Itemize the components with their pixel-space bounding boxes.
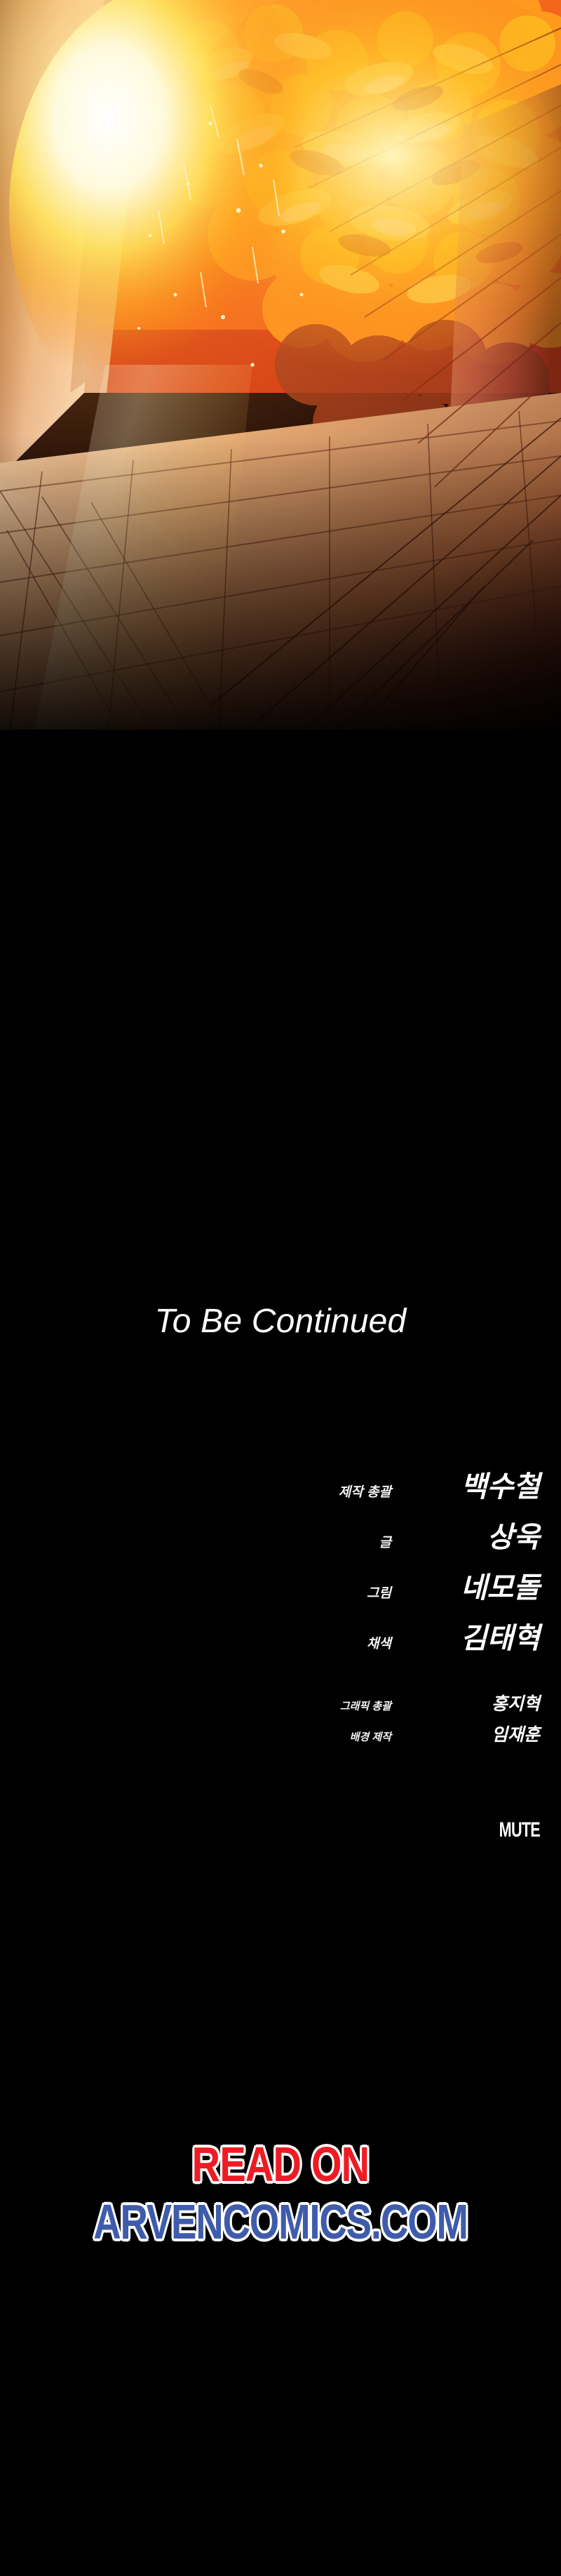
studio-logo-wrap: MUTE (0, 1818, 561, 1842)
credit-name: 김태혁 (428, 1614, 540, 1656)
credit-label: 그래픽 총괄 (309, 1698, 428, 1713)
credit-label: 제작 총괄 (309, 1482, 428, 1501)
banner-read-on-text: READ ON (56, 2140, 505, 2189)
read-on-banner[interactable]: READ ON ARVENCOMICS.COM (0, 2140, 561, 2246)
credit-label: 그림 (309, 1583, 428, 1602)
credit-label: 배경 제작 (309, 1729, 428, 1744)
credit-name: 홍지혁 (428, 1690, 540, 1715)
credit-label: 채색 (309, 1633, 428, 1652)
credit-name: 임재훈 (428, 1721, 540, 1746)
explosion-panel (0, 0, 561, 765)
credit-name: 상욱 (428, 1513, 540, 1555)
credit-row: 그림 네모돌 (0, 1564, 561, 1614)
credit-row: 글 상욱 (0, 1513, 561, 1564)
credit-row: 배경 제작 임재훈 (0, 1721, 561, 1752)
credit-name: 네모돌 (428, 1564, 540, 1606)
credit-row: 그래픽 총괄 홍지혁 (0, 1690, 561, 1721)
webtoon-page: To Be Continued 제작 총괄 백수철 글 상욱 그림 네모돌 채색… (0, 0, 561, 2576)
bottom-fade (0, 435, 561, 765)
banner-site-url-text[interactable]: ARVENCOMICS.COM (62, 2197, 499, 2246)
credit-row: 제작 총괄 백수철 (0, 1463, 561, 1513)
credit-row: 채색 김태혁 (0, 1614, 561, 1665)
credit-name: 백수철 (428, 1463, 540, 1505)
credit-label: 글 (309, 1532, 428, 1551)
mute-studio-logo: MUTE (461, 1818, 540, 1842)
to-be-continued-text: To Be Continued (0, 1302, 561, 1341)
credits-block: 제작 총괄 백수철 글 상욱 그림 네모돌 채색 김태혁 그래픽 총괄 홍지혁 … (0, 1463, 561, 1752)
